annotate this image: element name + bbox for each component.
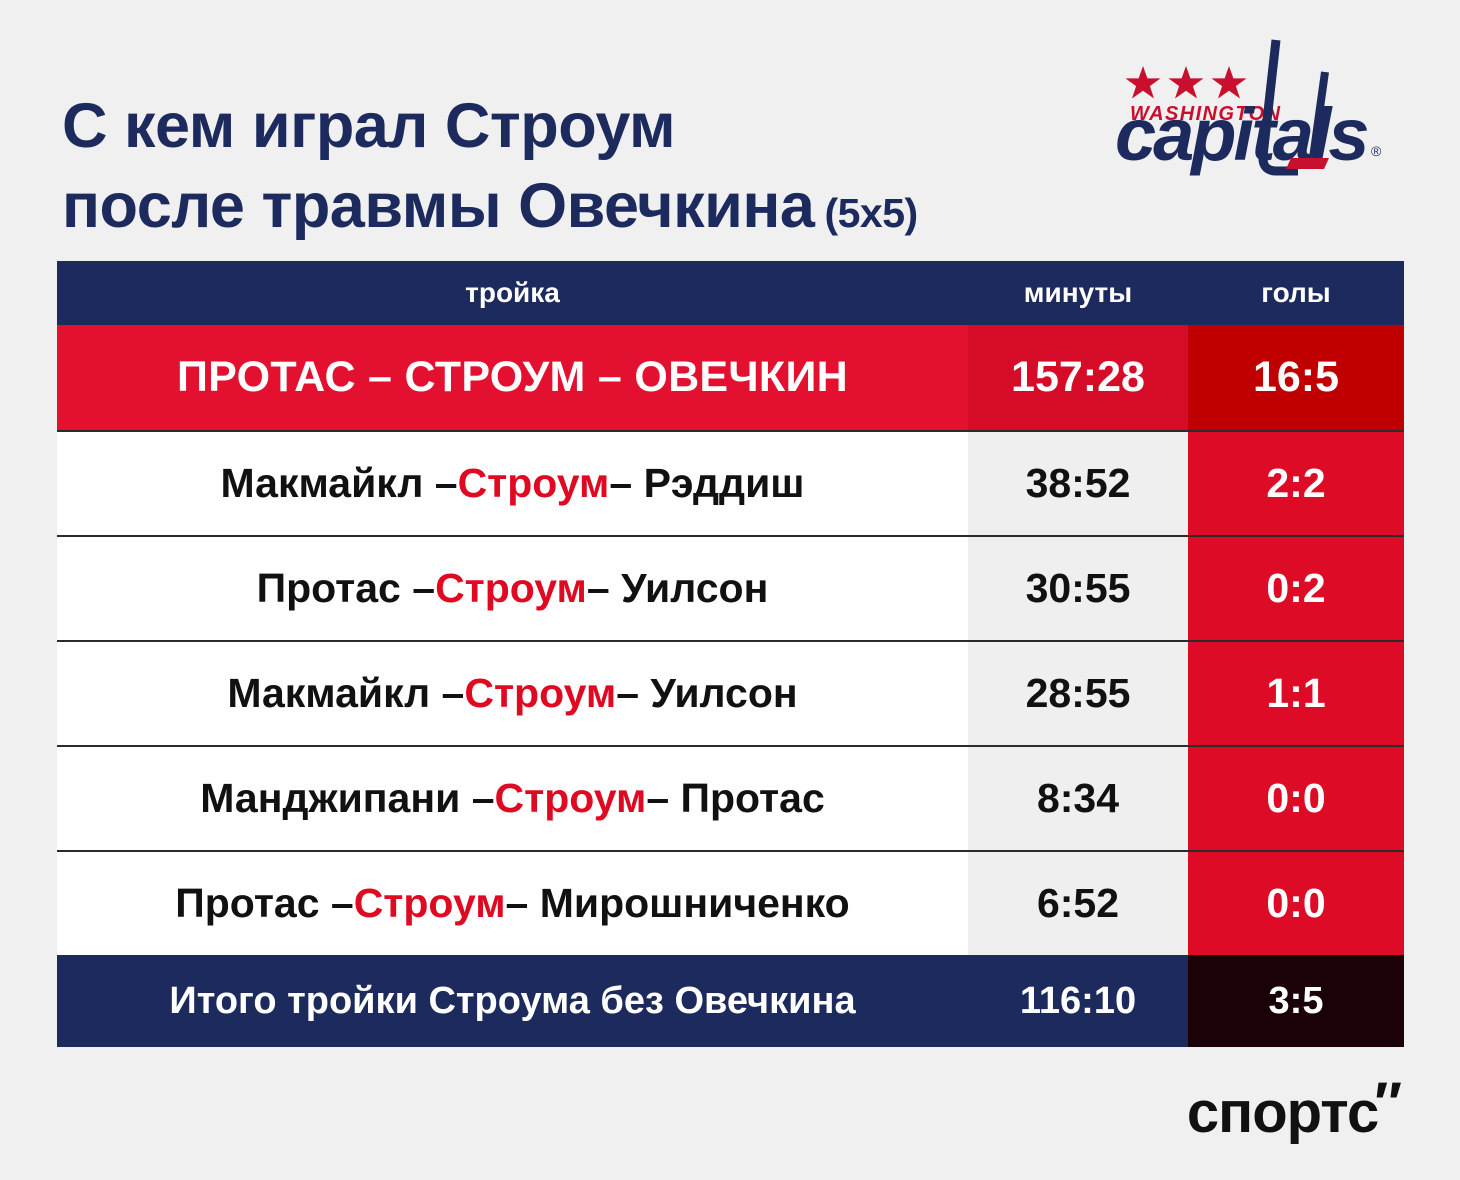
line-part-pre: Макмайкл – (221, 460, 458, 507)
featured-row: ПРОТАС – СТРОУМ – ОВЕЧКИН 157:28 16:5 (57, 325, 1404, 430)
sports-ru-logo: спортс ″ (1187, 1084, 1402, 1142)
featured-row-minutes: 157:28 (968, 325, 1188, 430)
table-row-line: Протас – Строум – Уилсон (57, 537, 968, 640)
table-row-goals: 1:1 (1188, 642, 1404, 745)
table-row-line: Макмайкл – Строум – Рэддиш (57, 432, 968, 535)
line-part-highlight: Строум (354, 880, 506, 927)
table-row-minutes: 6:52 (968, 852, 1188, 955)
table-row: Протас – Строум – Мирошниченко 6:52 0:0 (57, 850, 1404, 955)
featured-row-line: ПРОТАС – СТРОУМ – ОВЕЧКИН (57, 325, 968, 430)
featured-row-goals: 16:5 (1188, 325, 1404, 430)
lines-table: тройка минуты голы ПРОТАС – СТРОУМ – ОВЕ… (57, 261, 1404, 1047)
line-part-pre: Манджипани – (200, 775, 494, 822)
table-row: Макмайкл – Строум – Рэддиш 38:52 2:2 (57, 430, 1404, 535)
total-row-label: Итого тройки Строума без Овечкина (57, 955, 968, 1047)
line-part-pre: Протас – (175, 880, 353, 927)
column-header-goals: голы (1188, 261, 1404, 325)
title-line-2: после травмы Овечкина (62, 166, 814, 246)
table-row-goals: 0:0 (1188, 852, 1404, 955)
line-part-post: – Протас (646, 775, 824, 822)
table-header-row: тройка минуты голы (57, 261, 1404, 325)
table-row-minutes: 28:55 (968, 642, 1188, 745)
logo-red-bar (1286, 158, 1329, 169)
title-line-1: С кем играл Строум (62, 86, 1152, 166)
table-row-goals: 2:2 (1188, 432, 1404, 535)
table-row-goals: 0:2 (1188, 537, 1404, 640)
table-row: Макмайкл – Строум – Уилсон 28:55 1:1 (57, 640, 1404, 745)
line-part-highlight: Строум (464, 670, 616, 717)
table-row: Протас – Строум – Уилсон 30:55 0:2 (57, 535, 1404, 640)
total-row-goals: 3:5 (1188, 955, 1404, 1047)
sports-logo-mark: ″ (1374, 1084, 1402, 1124)
page-title: С кем играл Строум после травмы Овечкина… (62, 86, 1152, 253)
line-part-pre: Макмайкл – (227, 670, 464, 717)
title-strength-suffix: (5x5) (824, 173, 917, 253)
line-part-post: – Мирошниченко (506, 880, 850, 927)
column-header-minutes: минуты (968, 261, 1188, 325)
table-row-goals: 0:0 (1188, 747, 1404, 850)
table-row-minutes: 30:55 (968, 537, 1188, 640)
sports-logo-word: спортс (1187, 1084, 1378, 1142)
column-header-line: тройка (57, 261, 968, 325)
line-part-highlight: Строум (495, 775, 647, 822)
table-row-minutes: 8:34 (968, 747, 1188, 850)
line-part-pre: Протас – (257, 565, 435, 612)
line-part-post: – Уилсон (616, 670, 797, 717)
table-row: Манджипани – Строум – Протас 8:34 0:0 (57, 745, 1404, 850)
line-part-highlight: Строум (458, 460, 610, 507)
page-header: С кем играл Строум после травмы Овечкина… (0, 0, 1460, 261)
title-line-2-wrap: после травмы Овечкина (5x5) (62, 166, 1152, 253)
table-row-line: Манджипани – Строум – Протас (57, 747, 968, 850)
line-part-post: – Уилсон (587, 565, 768, 612)
logo-registered-mark: ® (1371, 143, 1382, 159)
total-row-minutes: 116:10 (968, 955, 1188, 1047)
total-row: Итого тройки Строума без Овечкина 116:10… (57, 955, 1404, 1047)
line-part-highlight: Строум (435, 565, 587, 612)
table-row-line: Протас – Строум – Мирошниченко (57, 852, 968, 955)
table-row-line: Макмайкл – Строум – Уилсон (57, 642, 968, 745)
washington-capitals-logo: WASHINGTON capitals ® (1113, 38, 1403, 213)
line-part-post: – Рэддиш (609, 460, 804, 507)
table-row-minutes: 38:52 (968, 432, 1188, 535)
logo-capitals-wordmark: capitals (1115, 93, 1367, 176)
